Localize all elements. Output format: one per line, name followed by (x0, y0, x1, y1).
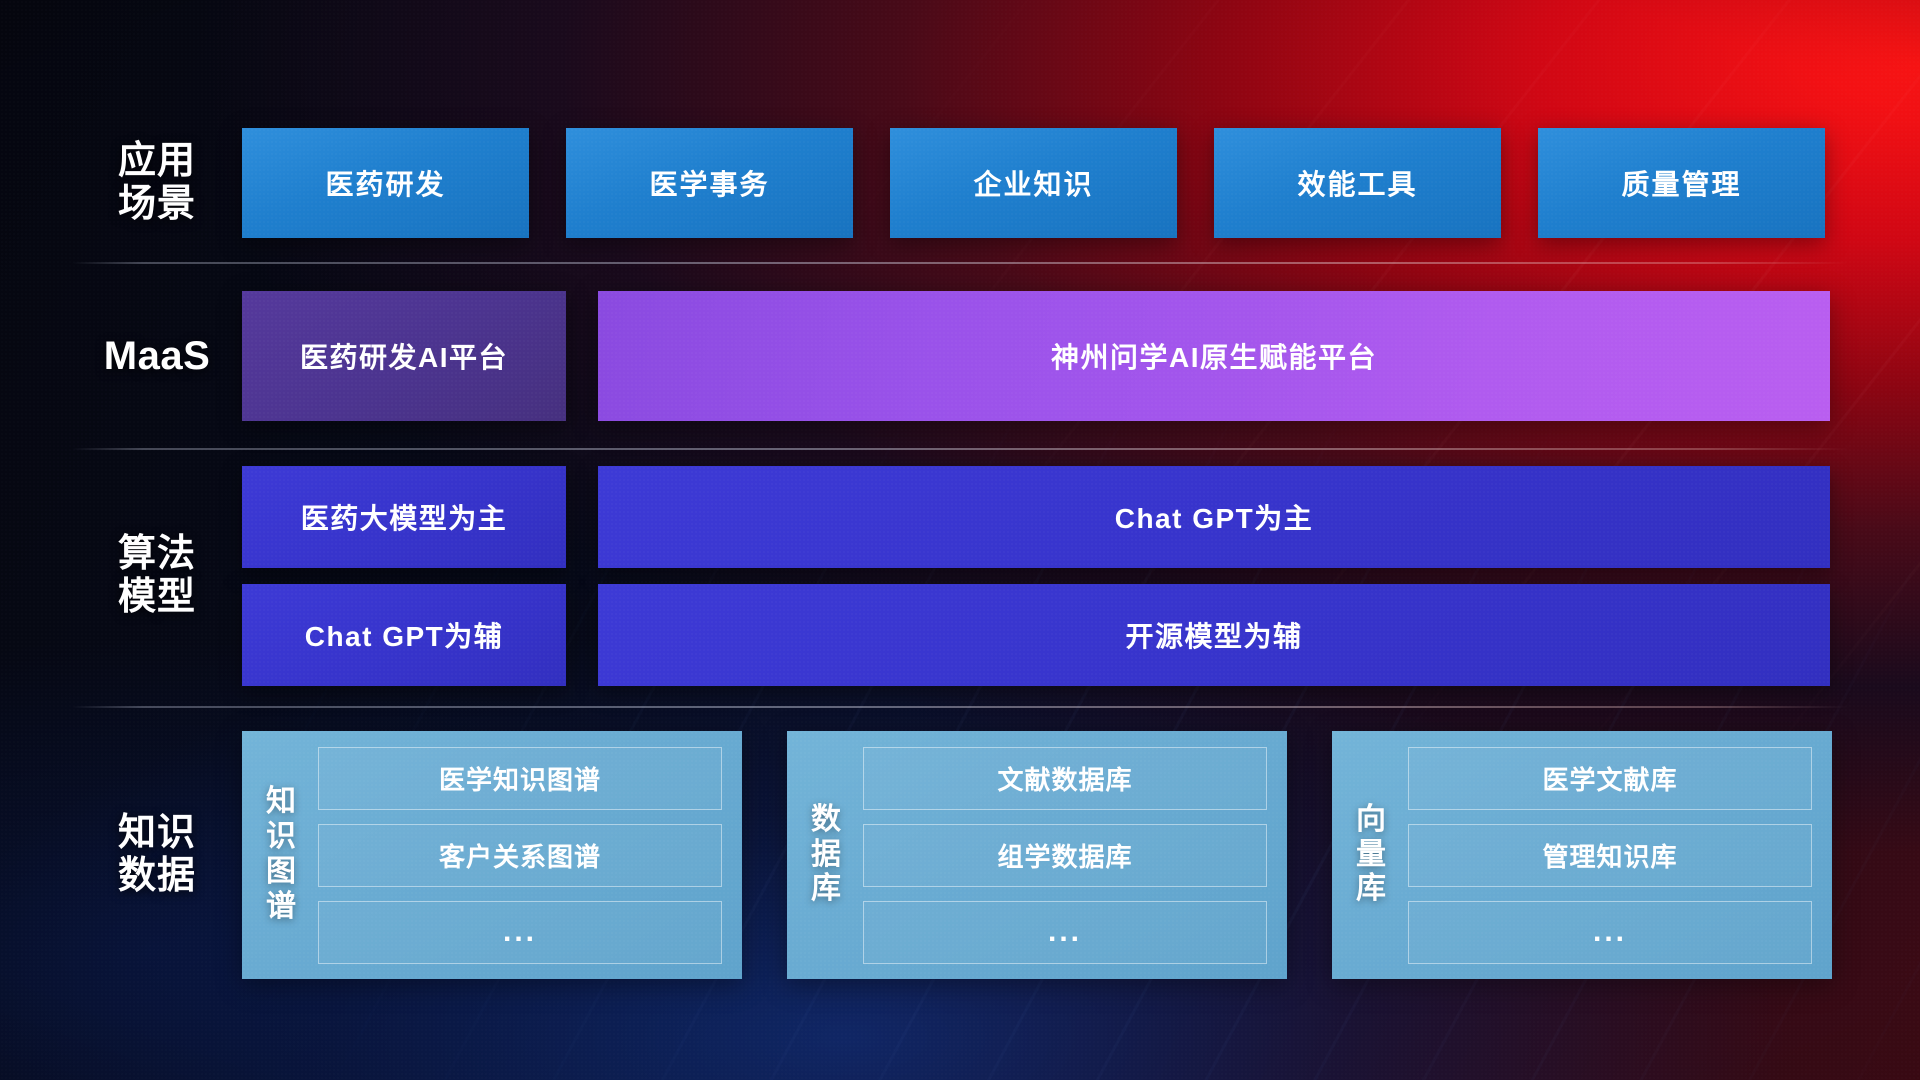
scenario-box-pharma-rd[interactable]: 医药研发 (242, 128, 529, 238)
row-label-algorithm: 算法 模型 (72, 533, 242, 618)
knowledge-item-medical-knowledge-graph[interactable]: 医学知识图谱 (318, 747, 722, 810)
knowledge-card-items: 文献数据库 组学数据库 ... (863, 747, 1267, 964)
knowledge-card-knowledge-graph[interactable]: 知识图谱 医学知识图谱 客户关系图谱 ... (242, 731, 742, 979)
knowledge-item-management-knowledge-store[interactable]: 管理知识库 (1408, 824, 1812, 887)
knowledge-item-label: 管理知识库 (1542, 837, 1677, 874)
row-label-knowledge-line2: 数据 (72, 855, 242, 898)
knowledge-item-label: 医学文献库 (1542, 760, 1677, 797)
algorithm-label: Chat GPT为辅 (305, 615, 504, 655)
scenario-box-efficiency-tools[interactable]: 效能工具 (1214, 128, 1501, 238)
row-maas: MaaS 医药研发AI平台 神州问学AI原生赋能平台 (72, 291, 1848, 421)
algorithm-box-chatgpt-primary[interactable]: Chat GPT为主 (598, 466, 1830, 568)
knowledge-card-database[interactable]: 数据库 文献数据库 组学数据库 ... (787, 731, 1287, 979)
knowledge-item-customer-relation-graph[interactable]: 客户关系图谱 (318, 824, 722, 887)
algorithm-label: 医药大模型为主 (301, 497, 508, 537)
row-body-application: 医药研发 医学事务 企业知识 效能工具 质量管理 (242, 128, 1848, 238)
knowledge-item-more[interactable]: ... (318, 901, 722, 964)
maas-box-shenzhou-wenxue-platform[interactable]: 神州问学AI原生赋能平台 (598, 291, 1830, 421)
knowledge-item-label: ... (1048, 915, 1082, 949)
knowledge-card-title: 数据库 (803, 803, 849, 907)
knowledge-item-omics-database[interactable]: 组学数据库 (863, 824, 1267, 887)
algorithm-row-secondary: Chat GPT为辅 开源模型为辅 (242, 584, 1830, 686)
knowledge-card-vector-store[interactable]: 向量库 医学文献库 管理知识库 ... (1332, 731, 1832, 979)
knowledge-item-literature-database[interactable]: 文献数据库 (863, 747, 1267, 810)
maas-left-label: 医药研发AI平台 (300, 336, 508, 376)
row-label-algorithm-line2: 模型 (72, 576, 242, 619)
maas-right-label: 神州问学AI原生赋能平台 (1051, 336, 1377, 376)
scenario-label: 质量管理 (1621, 163, 1741, 203)
knowledge-item-label: 组学数据库 (997, 837, 1132, 874)
slide-stage: 应用 场景 医药研发 医学事务 企业知识 效能工具 质量管理 MaaS 医药研发… (0, 0, 1920, 1080)
algorithm-label: 开源模型为辅 (1125, 615, 1302, 655)
maas-box-pharma-ai-platform[interactable]: 医药研发AI平台 (242, 291, 566, 421)
row-body-maas: 医药研发AI平台 神州问学AI原生赋能平台 (242, 291, 1848, 421)
row-label-algorithm-line1: 算法 (72, 533, 242, 576)
knowledge-item-label: ... (1593, 915, 1627, 949)
row-label-maas: MaaS (72, 334, 242, 379)
row-body-knowledge: 知识图谱 医学知识图谱 客户关系图谱 ... 数据库 文献数据库 组学数据库 .… (242, 731, 1848, 979)
separator-maas-algorithm (72, 448, 1848, 450)
row-application-scenarios: 应用 场景 医药研发 医学事务 企业知识 效能工具 质量管理 (72, 128, 1848, 238)
algorithm-box-pharma-large-model-primary[interactable]: 医药大模型为主 (242, 466, 566, 568)
knowledge-item-label: ... (503, 915, 537, 949)
row-body-algorithm: 医药大模型为主 Chat GPT为主 Chat GPT为辅 开源模型为辅 (242, 466, 1848, 686)
scenario-label: 医药研发 (325, 163, 445, 203)
separator-application-maas (72, 262, 1848, 264)
algorithm-box-chatgpt-secondary[interactable]: Chat GPT为辅 (242, 584, 566, 686)
knowledge-item-more[interactable]: ... (1408, 901, 1812, 964)
scenario-label: 企业知识 (973, 163, 1093, 203)
separator-algorithm-knowledge (72, 706, 1848, 708)
maas-platform-list: 医药研发AI平台 神州问学AI原生赋能平台 (242, 291, 1830, 421)
row-label-knowledge-line1: 知识 (72, 812, 242, 855)
algorithm-box-opensource-secondary[interactable]: 开源模型为辅 (598, 584, 1830, 686)
row-knowledge-data: 知识 数据 知识图谱 医学知识图谱 客户关系图谱 ... 数据库 (72, 731, 1848, 979)
application-scenario-list: 医药研发 医学事务 企业知识 效能工具 质量管理 (242, 128, 1825, 238)
row-algorithm-model: 算法 模型 医药大模型为主 Chat GPT为主 Chat GPT为辅 开源模型… (72, 466, 1848, 686)
row-label-knowledge: 知识 数据 (72, 812, 242, 897)
knowledge-item-label: 医学知识图谱 (439, 760, 601, 797)
knowledge-card-title: 向量库 (1348, 803, 1394, 907)
architecture-diagram: 应用 场景 医药研发 医学事务 企业知识 效能工具 质量管理 MaaS 医药研发… (0, 0, 1920, 1080)
algorithm-model-grid: 医药大模型为主 Chat GPT为主 Chat GPT为辅 开源模型为辅 (242, 466, 1830, 686)
scenario-box-quality-management[interactable]: 质量管理 (1538, 128, 1825, 238)
knowledge-card-items: 医学文献库 管理知识库 ... (1408, 747, 1812, 964)
scenario-box-medical-affairs[interactable]: 医学事务 (566, 128, 853, 238)
row-label-application-line1: 应用 (72, 140, 242, 183)
knowledge-card-title: 知识图谱 (258, 785, 304, 924)
knowledge-item-label: 客户关系图谱 (439, 837, 601, 874)
knowledge-card-list: 知识图谱 医学知识图谱 客户关系图谱 ... 数据库 文献数据库 组学数据库 .… (242, 731, 1832, 979)
scenario-label: 医学事务 (649, 163, 769, 203)
knowledge-item-label: 文献数据库 (997, 760, 1132, 797)
knowledge-item-more[interactable]: ... (863, 901, 1267, 964)
algorithm-row-primary: 医药大模型为主 Chat GPT为主 (242, 466, 1830, 568)
row-label-application-line2: 场景 (72, 183, 242, 226)
knowledge-card-items: 医学知识图谱 客户关系图谱 ... (318, 747, 722, 964)
knowledge-item-medical-literature-store[interactable]: 医学文献库 (1408, 747, 1812, 810)
row-label-application: 应用 场景 (72, 140, 242, 225)
scenario-box-enterprise-knowledge[interactable]: 企业知识 (890, 128, 1177, 238)
algorithm-label: Chat GPT为主 (1115, 497, 1314, 537)
scenario-label: 效能工具 (1297, 163, 1417, 203)
